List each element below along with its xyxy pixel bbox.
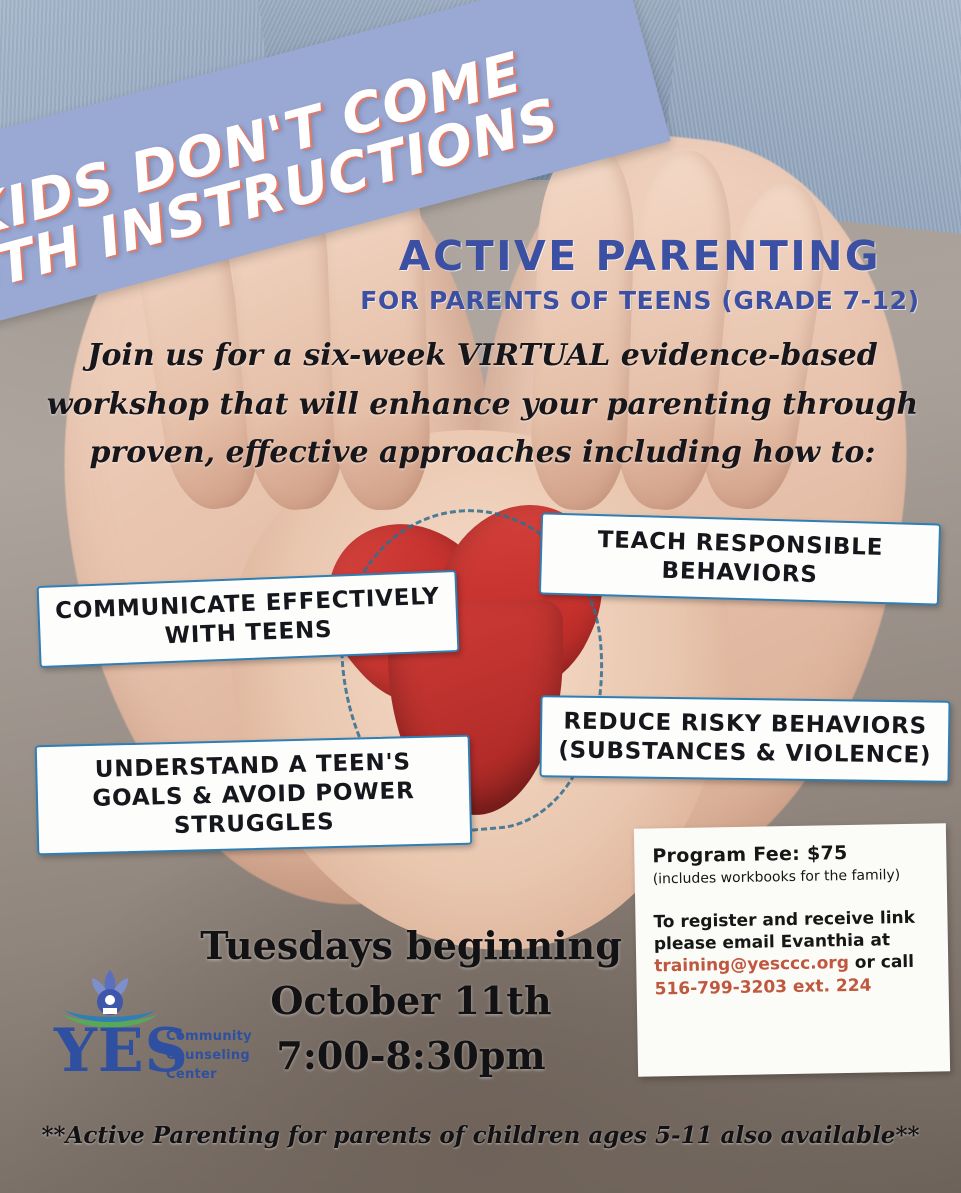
- callout-teach-responsible: TEACH RESPONSIBLE BEHAVIORS: [539, 512, 941, 605]
- registration-instructions: To register and receive link please emai…: [653, 907, 934, 1000]
- registration-note: Program Fee: $75 (includes workbooks for…: [634, 823, 950, 1076]
- callout-reduce-risky: REDUCE RISKY BEHAVIORS (SUBSTANCES & VIO…: [539, 695, 950, 782]
- logo-tagline-line-3: Center: [166, 1066, 252, 1085]
- flyer-poster: KIDS DON'T COME WITH INSTRUCTIONS ACTIVE…: [0, 0, 961, 1193]
- intro-paragraph: Join us for a six-week VIRTUAL evidence-…: [30, 332, 935, 478]
- logo-tagline-line-1: Community: [166, 1028, 252, 1047]
- callout-communicate: COMMUNICATE EFFECTIVELY WITH TEENS: [37, 570, 460, 668]
- program-fee-detail: (includes workbooks for the family): [653, 867, 933, 890]
- footer-note: **Active Parenting for parents of childr…: [0, 1122, 961, 1149]
- yes-logo: YES Community Counseling Center: [48, 962, 298, 1092]
- contact-phone: 516-799-3203 ext. 224: [654, 973, 934, 1000]
- callout-understand-goals: UNDERSTAND A TEEN'S GOALS & AVOID POWER …: [35, 735, 473, 856]
- page-title: ACTIVE PARENTING: [330, 232, 950, 280]
- logo-tagline-line-2: Counseling: [166, 1047, 252, 1066]
- page-subtitle: FOR PARENTS OF TEENS (GRADE 7-12): [330, 286, 950, 315]
- program-fee: Program Fee: $75: [652, 840, 932, 869]
- or-call-text: or call: [849, 952, 914, 973]
- logo-tagline: Community Counseling Center: [166, 1028, 252, 1085]
- contact-email[interactable]: training@yesccc.org: [654, 953, 849, 976]
